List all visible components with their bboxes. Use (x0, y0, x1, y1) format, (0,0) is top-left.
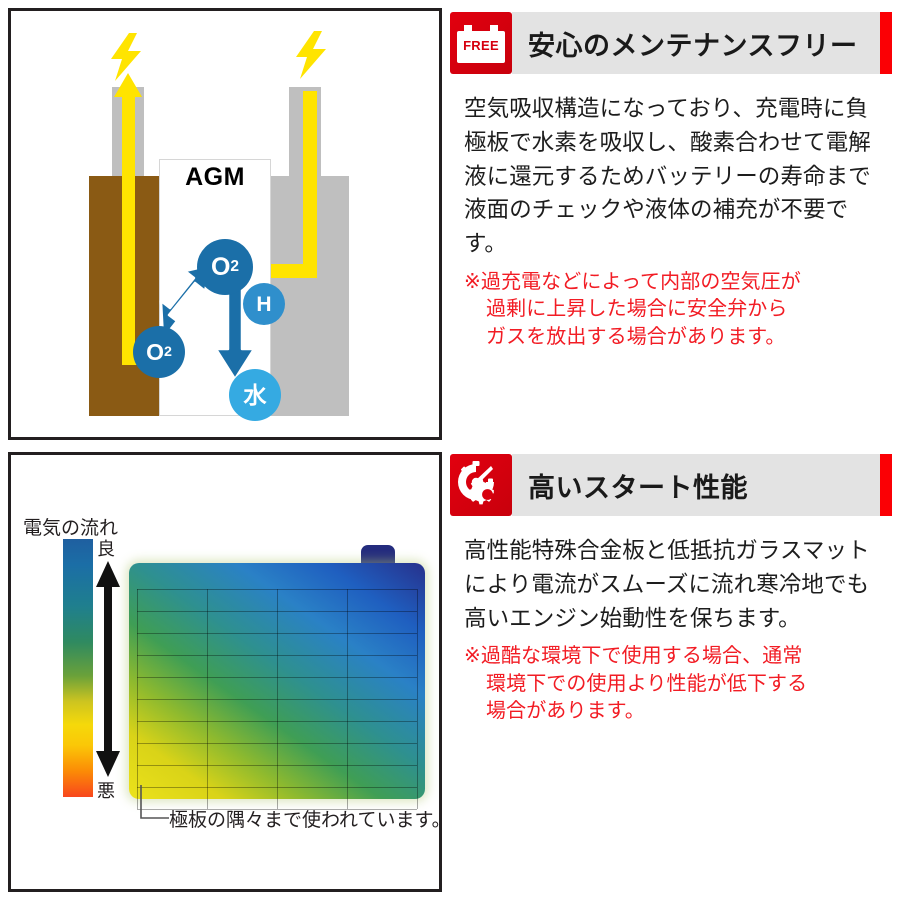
section-title: 安心のメンテナンスフリー (528, 24, 857, 63)
section-accent-bar (880, 12, 892, 74)
section-maintenance-free: FREE 安心のメンテナンスフリー 空気吸収構造になっており、充電時に負極板で水… (450, 12, 892, 446)
note-line-3: 場合があります。 (464, 698, 886, 726)
molecule-oxygen-lower: O2 (133, 326, 185, 378)
agm-label: AGM (161, 163, 269, 192)
plate-diagram-stage: 電気の流れ 良 悪 (11, 455, 439, 889)
section-title-bar: 高いスタート性能 (512, 454, 880, 516)
molecule-subscript: 2 (230, 259, 239, 275)
battery-free-label: FREE (457, 38, 505, 53)
legend-color-bar (63, 539, 93, 797)
current-path-left-vertical (122, 93, 135, 365)
molecule-oxygen-upper: O2 (197, 239, 253, 295)
agm-diagram-stage: AGM O2 O2 H 水 (11, 11, 439, 437)
illustration-column: AGM O2 O2 H 水 (0, 0, 448, 900)
agm-diagram-panel: AGM O2 O2 H 水 (8, 8, 442, 440)
plate-caption: 極板の隅々まで使われています。 (169, 805, 442, 832)
molecule-subscript: 2 (164, 345, 172, 359)
body-paragraph: 空気吸収構造になっており、充電時に負極板で水素を吸収し、酸素合わせて電解液に還元… (464, 92, 886, 261)
plate-grid (137, 589, 417, 809)
text-column: FREE 安心のメンテナンスフリー 空気吸収構造になっており、充電時に負極板で水… (448, 0, 900, 900)
note-line-1: ※過充電などによって内部の空気圧が (464, 269, 886, 297)
section-body-text: 高性能特殊合金板と低抵抗ガラスマットにより電流がスムーズに流れ寒冷地でも高いエン… (450, 516, 892, 635)
section-header: 高いスタート性能 (450, 454, 892, 516)
note-line-1: ※過酷な環境下で使用する場合、通常 (464, 643, 886, 671)
molecule-label: O (211, 255, 230, 280)
battery-glyph: FREE (457, 23, 505, 63)
current-arrow-up-icon (114, 73, 142, 97)
note-line-2: 過剰に上昇した場合に安全弁から (464, 296, 886, 324)
battery-free-icon: FREE (450, 12, 512, 74)
speedometer-gear-glyph (455, 460, 507, 510)
note-line-2: 環境下での使用より性能が低下する (464, 671, 886, 699)
plate-body (129, 563, 425, 799)
plate-diagram-panel: 電気の流れ 良 悪 (8, 452, 442, 892)
note-line-3: ガスを放出する場合があります。 (464, 324, 886, 352)
infographic-page: AGM O2 O2 H 水 (0, 0, 900, 900)
molecule-water: 水 (229, 369, 281, 421)
battery-plate-graphic (129, 545, 429, 799)
legend-good-label: 良 (97, 535, 115, 561)
lightning-bolt-icon (294, 31, 328, 79)
section-note-text: ※過酷な環境下で使用する場合、通常 環境下での使用より性能が低下する 場合があり… (450, 635, 892, 726)
section-note-text: ※過充電などによって内部の空気圧が 過剰に上昇した場合に安全弁から ガスを放出す… (450, 261, 892, 352)
callout-leader-line (139, 785, 169, 823)
speedometer-gears-icon (450, 454, 512, 516)
section-title: 高いスタート性能 (528, 466, 748, 505)
section-title-bar: 安心のメンテナンスフリー (512, 12, 880, 74)
section-high-start-performance: 高いスタート性能 高性能特殊合金板と低抵抗ガラスマットにより電流がスムーズに流れ… (450, 446, 892, 892)
legend-double-arrow-icon (95, 561, 121, 777)
molecule-hydrogen: H (243, 283, 285, 325)
body-paragraph: 高性能特殊合金板と低抵抗ガラスマットにより電流がスムーズに流れ寒冷地でも高いエン… (464, 534, 886, 635)
section-header: FREE 安心のメンテナンスフリー (450, 12, 892, 74)
current-path-right-vertical (303, 91, 317, 278)
section-body-text: 空気吸収構造になっており、充電時に負極板で水素を吸収し、酸素合わせて電解液に還元… (450, 74, 892, 261)
section-accent-bar (880, 454, 892, 516)
molecule-label: O (146, 341, 164, 364)
legend-bad-label: 悪 (97, 777, 115, 803)
